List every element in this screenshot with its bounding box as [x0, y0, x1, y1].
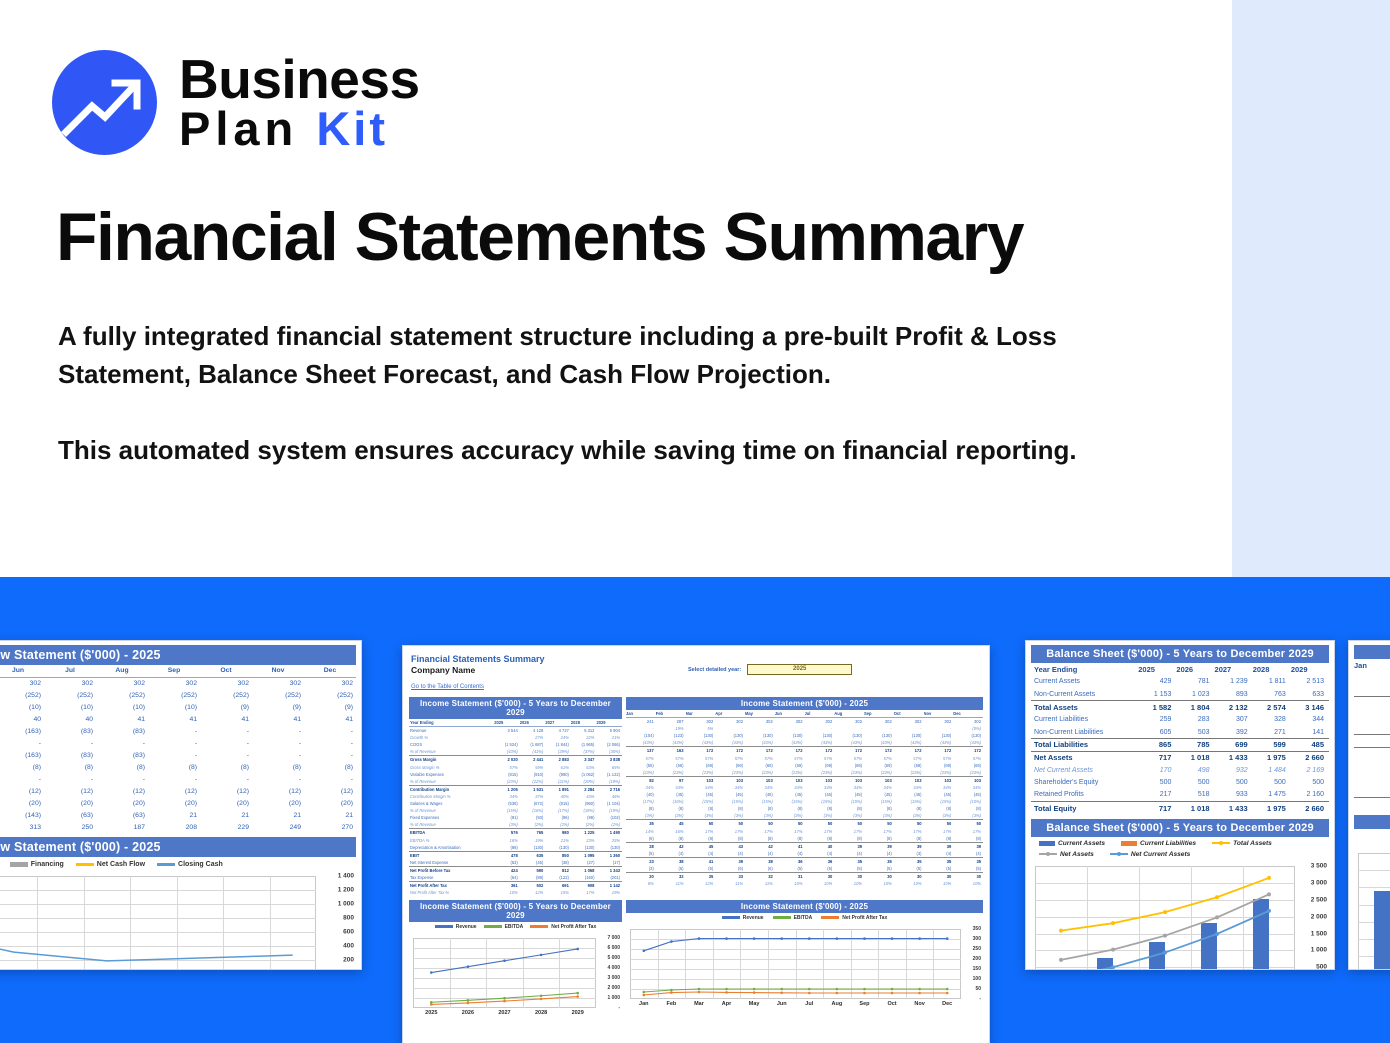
- table-cell: (43%): [894, 739, 924, 747]
- table-cell: 392: [1215, 726, 1253, 739]
- column-header: Sep: [864, 710, 894, 718]
- gridline: [685, 929, 686, 999]
- row-label: Non-Current Liabilities: [1031, 726, 1138, 739]
- table-cell: 1 142: [596, 882, 622, 890]
- table-cell: (16%): [520, 807, 546, 814]
- column-header: Feb: [656, 710, 686, 718]
- table-row: 692: [1354, 722, 1390, 735]
- table-cell: (15%): [864, 798, 894, 805]
- bar: [1097, 958, 1113, 970]
- table-cell: 39: [834, 842, 864, 850]
- table-cell: 17%: [715, 828, 745, 835]
- legend-item: Revenue: [722, 915, 764, 921]
- hero-description-1: A fully integrated financial statement s…: [58, 318, 1138, 393]
- table-cell: (8): [686, 805, 716, 812]
- table-cell: -: [304, 725, 356, 737]
- table-cell: 17%: [953, 828, 983, 835]
- table-cell: -: [864, 725, 894, 732]
- cash-flow-sheet[interactable]: Cash Flow Statement ($'000) - 2025 MayJu…: [0, 640, 362, 970]
- table-cell: 3 544: [494, 727, 520, 735]
- table-cell: (45): [745, 791, 775, 798]
- table-cell: 35: [864, 857, 894, 865]
- table-row: (17%)(16%)(15%)(15%)(15%)(15%)(15%)(15%)…: [626, 798, 983, 805]
- table-cell: 45: [656, 820, 686, 828]
- table-cell: 17%: [924, 828, 954, 835]
- table-cell: 19%: [520, 837, 546, 844]
- table-cell: 172: [864, 747, 894, 755]
- legend-item: EBITDA: [773, 915, 813, 921]
- table-cell: 14%: [626, 828, 656, 835]
- table-cell: -: [44, 773, 96, 785]
- table-cell: -: [894, 725, 924, 732]
- far-right-table: Jan 1 1741241 297936927865121 0815001251…: [1354, 659, 1390, 810]
- annual-chart-band: Income Statement ($'000) - 5 Years to De…: [409, 900, 622, 922]
- table-cell: 57%: [924, 755, 954, 762]
- table-cell: 785: [1176, 739, 1214, 752]
- table-row: Gross Margin %57%59%61%63%65%: [409, 764, 622, 771]
- table-cell: 605: [1138, 726, 1176, 739]
- table-cell: 50: [686, 820, 716, 828]
- table-row: Current Assets4297811 2391 8112 513: [1031, 676, 1329, 689]
- row-label: Current Liabilities: [1031, 713, 1138, 726]
- row-label: % of Revenue: [409, 778, 494, 786]
- table-cell: 34%: [494, 793, 520, 800]
- table-cell: 50: [715, 820, 745, 828]
- y-axis-tick: 5 000: [607, 955, 620, 961]
- table-cell: 57%: [626, 755, 656, 762]
- table-cell: (40): [626, 791, 656, 798]
- table-row: Net Current Assets1704989321 4842 169: [1031, 764, 1329, 777]
- table-cell: 34%: [686, 784, 716, 791]
- table-cell: (8): [805, 835, 835, 843]
- table-cell: (23%): [805, 769, 835, 777]
- table-cell: 43%: [571, 793, 597, 800]
- table-cell: 635: [520, 851, 546, 859]
- x-axis-tick: 2025: [425, 1010, 437, 1016]
- table-cell: 498: [1176, 764, 1214, 777]
- table-cell: 50: [805, 820, 835, 828]
- table-cell: 1 095: [571, 851, 597, 859]
- growth-arrow-icon: [52, 50, 157, 155]
- gridline: [1243, 866, 1244, 970]
- screenshot-stage: Cash Flow Statement ($'000) - 2025 MayJu…: [0, 577, 1390, 1043]
- table-cell: 17%: [686, 828, 716, 835]
- y-axis-tick: 200: [343, 957, 354, 964]
- table-cell: (5): [805, 865, 835, 873]
- table-cell: (18%): [571, 807, 597, 814]
- table-cell: 287: [656, 718, 686, 726]
- table-cell: 39: [715, 857, 745, 865]
- table-row: 456313250187208229249270: [0, 821, 356, 833]
- gridline: [413, 978, 596, 979]
- table-cell: 328: [1253, 713, 1291, 726]
- table-cell: 103: [924, 776, 954, 784]
- gridline: [878, 929, 879, 999]
- table-cell: 34%: [924, 784, 954, 791]
- table-cell: (8): [656, 835, 686, 843]
- table-cell: 512: [1354, 798, 1390, 811]
- table-row: EBITDA5767659801 2251 490: [409, 829, 622, 837]
- row-label: Depreciation & Amortisation: [409, 844, 494, 852]
- table-cell: (3%): [494, 821, 520, 829]
- far-right-sheet-fragment[interactable]: Jan 1 1741241 297936927865121 0815001251…: [1348, 640, 1390, 970]
- table-cell: (53): [494, 859, 520, 867]
- table-cell: -: [252, 773, 304, 785]
- brand-name-line1: Business: [179, 53, 420, 105]
- table-cell: -: [304, 773, 356, 785]
- table-cell: (8): [953, 835, 983, 843]
- gridline: [37, 876, 38, 970]
- column-header: 2025: [1138, 663, 1176, 676]
- y-axis-tick: 2 500: [1311, 896, 1327, 903]
- table-cell: 2 132: [1215, 701, 1253, 714]
- table-cell: -: [834, 725, 864, 732]
- table-cell: 302: [834, 718, 864, 726]
- y-axis-tick: 3 000: [1311, 879, 1327, 886]
- table-cell: 57%: [715, 755, 745, 762]
- gridline: [1035, 883, 1295, 884]
- table-cell: 1 490: [596, 829, 622, 837]
- table-cell: 241: [626, 718, 656, 726]
- table-cell: 38: [656, 857, 686, 865]
- table-row: (141)(143)(63)(63)21212121: [0, 809, 356, 821]
- table-cell: 10%: [864, 880, 894, 887]
- table-row: EBIT4786358501 0951 360: [409, 851, 622, 859]
- monthly-income-table: JanFebMarAprMayJunJulAugSepOctNovDec 241…: [626, 710, 983, 887]
- y-axis-tick: 3 500: [1311, 863, 1327, 870]
- table-cell: 172: [686, 747, 716, 755]
- table-cell: 40: [44, 713, 96, 725]
- table-cell: 22%: [571, 734, 597, 741]
- table-cell: -: [715, 725, 745, 732]
- table-row: (43%)(43%)(43%)(43%)(43%)(43%)(43%)(43%)…: [626, 739, 983, 747]
- legend-label: Total Assets: [1233, 840, 1272, 847]
- table-cell: 3 838: [596, 756, 622, 764]
- table-cell: (63): [44, 809, 96, 821]
- x-axis-tick: 2027: [498, 1010, 510, 1016]
- table-cell: (10): [148, 701, 200, 713]
- column-header: Jul: [805, 710, 835, 718]
- y-axis-tick: 1 200: [338, 887, 354, 894]
- table-cell: 208: [148, 821, 200, 833]
- y-axis-tick: 150: [973, 966, 981, 972]
- table-cell: (20%): [571, 778, 597, 786]
- table-cell: -: [252, 725, 304, 737]
- table-cell: (3%): [864, 812, 894, 820]
- table-cell: (3): [626, 865, 656, 873]
- table-cell: 1 975: [1253, 751, 1291, 764]
- table-cell: (8): [834, 805, 864, 812]
- year-selector-dropdown[interactable]: 2025: [747, 664, 852, 675]
- table-cell: (1 104): [596, 800, 622, 807]
- table-cell: (130): [520, 844, 546, 852]
- annual-income-body: Revenue3 5444 1284 7275 3125 904Growth %…: [409, 727, 622, 897]
- table-cell: 103: [953, 776, 983, 784]
- table-row: Shareholder's Equity500500500500500: [1031, 776, 1329, 789]
- table-cell: (69): [686, 762, 716, 769]
- table-row: (40)(45)(45)(45)(45)(45)(45)(45)(45)(45)…: [626, 791, 983, 798]
- table-cell: (5): [894, 865, 924, 873]
- table-cell: 21%: [596, 734, 622, 741]
- table-cell: 865: [1138, 739, 1176, 752]
- legend-item: Net Current Assets: [1110, 851, 1190, 858]
- table-row: (104)(123)(130)(130)(130)(130)(130)(130)…: [626, 732, 983, 739]
- table-cell: (10): [44, 701, 96, 713]
- balance-sheet-panel[interactable]: Balance Sheet ($'000) - 5 Years to Decem…: [1025, 640, 1335, 970]
- table-cell: 33: [715, 873, 745, 881]
- table-cell: 1 023: [1176, 688, 1214, 701]
- table-cell: 12: [1354, 785, 1390, 798]
- table-cell: 40: [0, 713, 44, 725]
- table-cell: -: [200, 773, 252, 785]
- table-cell: (8): [715, 835, 745, 843]
- table-cell: 21%: [545, 837, 571, 844]
- legend-label: Current Liabilities: [1140, 840, 1196, 847]
- table-cell: (3%): [745, 812, 775, 820]
- table-row: (8)(8)(8)(8)(8)(8)(8)(8): [0, 761, 356, 773]
- gridline: [1358, 870, 1390, 871]
- annual-chart-legend: RevenueEBITDANet Profit After Tax: [409, 922, 622, 932]
- table-cell: (23%): [834, 769, 864, 777]
- column-header: Mar: [686, 710, 716, 718]
- table-cell: (130): [864, 732, 894, 739]
- table-cell: 1 360: [596, 851, 622, 859]
- table-cell: 34%: [953, 784, 983, 791]
- table-cell: 10%: [805, 880, 835, 887]
- table-cell: 21: [304, 809, 356, 821]
- table-row: 284245434241403939393939: [626, 842, 983, 850]
- y-axis-tick: 200: [973, 956, 981, 962]
- row-label: Net Profit After Tax: [409, 882, 494, 890]
- table-cell: 250: [44, 821, 96, 833]
- table-cell: -: [775, 725, 805, 732]
- table-cell: 11%: [715, 880, 745, 887]
- row-label: Net Current Assets: [1031, 764, 1138, 777]
- row-label: Net Profit Before Tax: [409, 866, 494, 874]
- table-cell: 35: [924, 857, 954, 865]
- table-cell: (43%): [775, 739, 805, 747]
- hero-section: Business Plan Kit Financial Statements S…: [0, 0, 1390, 577]
- financial-summary-sheet[interactable]: Financial Statements Summary Company Nam…: [402, 645, 990, 1043]
- table-cell: (4): [686, 850, 716, 858]
- y-axis-tick: 300: [973, 936, 981, 942]
- table-cell: (201): [596, 874, 622, 882]
- balance-sheet-table-title: Balance Sheet ($'000) - 5 Years to Decem…: [1031, 645, 1329, 663]
- table-cell: (99): [571, 814, 597, 821]
- table-cell: (23%): [494, 778, 520, 786]
- table-cell: 1 018: [1176, 802, 1214, 815]
- table-cell: 302: [864, 718, 894, 726]
- table-cell: (4): [834, 850, 864, 858]
- y-axis-tick: -: [979, 996, 981, 1002]
- table-cell: 10%: [834, 880, 864, 887]
- table-cell: 302: [304, 677, 356, 689]
- table-cell: (88): [520, 874, 546, 882]
- table-cell: 23%: [571, 837, 597, 844]
- column-header: 2025: [494, 719, 520, 727]
- table-cell: (83): [44, 749, 96, 761]
- balance-sheet-body: Current Assets4297811 2391 8112 513Non-C…: [1031, 676, 1329, 815]
- brand-name-kit: Kit: [316, 102, 388, 155]
- table-cell: 361: [494, 882, 520, 890]
- table-cell: (23%): [894, 769, 924, 777]
- table-cell: (15%): [745, 798, 775, 805]
- table-cell: (3%): [656, 812, 686, 820]
- table-cell: (15%): [715, 798, 745, 805]
- table-cell: (12): [304, 785, 356, 797]
- table-cell: 908: [571, 882, 597, 890]
- row-label: Non-Current Assets: [1031, 688, 1138, 701]
- table-cell: 2 169: [1291, 764, 1329, 777]
- column-header: 2026: [520, 719, 546, 727]
- table-of-contents-link[interactable]: Go to the Table of Contents: [411, 684, 484, 690]
- table-cell: (8): [148, 761, 200, 773]
- table-cell: (15%): [805, 798, 835, 805]
- table-cell: 30: [894, 873, 924, 881]
- table-cell: 50: [953, 820, 983, 828]
- table-cell: 2 574: [1253, 701, 1291, 714]
- table-cell: (66): [656, 762, 686, 769]
- table-cell: (93): [520, 814, 546, 821]
- table-cell: (130): [596, 844, 622, 852]
- table-row: 1 297: [1354, 697, 1390, 710]
- year-selector-row[interactable]: Select detailed year: 2025: [688, 664, 852, 675]
- y-axis-tick: 4 000: [607, 965, 620, 971]
- table-cell: (12): [96, 785, 148, 797]
- table-cell: 763: [1253, 688, 1291, 701]
- legend-label: Revenue: [743, 915, 764, 921]
- table-row: (6)(8)(8)(8)(8)(8)(8)(8)(8)(8)(8)(8): [626, 835, 983, 843]
- table-cell: (0%): [953, 725, 983, 732]
- table-cell: (17%): [626, 798, 656, 805]
- table-cell: (143): [0, 809, 44, 821]
- table-row: 34%34%34%34%34%34%34%34%34%34%34%34%: [626, 784, 983, 791]
- table-cell: (8): [864, 835, 894, 843]
- row-label: Fixed Expenses: [409, 814, 494, 821]
- table-cell: 17%: [805, 828, 835, 835]
- table-cell: 36: [775, 857, 805, 865]
- table-cell: (5): [626, 850, 656, 858]
- table-cell: 765: [520, 829, 546, 837]
- table-cell: 30: [834, 873, 864, 881]
- gridline: [1358, 887, 1390, 888]
- y-axis-tick: 250: [973, 946, 981, 952]
- table-cell: 34%: [715, 784, 745, 791]
- x-axis-tick: Sep: [859, 1001, 869, 1007]
- row-label: Tax Expense: [409, 874, 494, 882]
- table-cell: 4 727: [545, 727, 571, 735]
- table-cell: (5): [924, 865, 954, 873]
- table-cell: (130): [775, 732, 805, 739]
- table-cell: 5 904: [596, 727, 622, 735]
- legend-item: EBITDA: [484, 924, 524, 930]
- table-row: --------: [0, 773, 356, 785]
- table-cell: 1 475: [1253, 789, 1291, 802]
- table-cell: 313: [0, 821, 44, 833]
- column-header: Nov: [252, 665, 304, 677]
- gridline: [713, 929, 714, 999]
- table-cell: 344: [1291, 713, 1329, 726]
- table-cell: (43%): [864, 739, 894, 747]
- row-label: % of Revenue: [409, 821, 494, 829]
- brand-logo: Business Plan Kit: [52, 50, 420, 155]
- table-cell: 850: [545, 851, 571, 859]
- table-cell: (4): [805, 850, 835, 858]
- table-cell: (17): [596, 859, 622, 867]
- table-row: Total Assets1 5821 8042 1322 5743 146: [1031, 701, 1329, 714]
- table-cell: 35: [834, 857, 864, 865]
- table-cell: 41: [252, 713, 304, 725]
- x-axis-tick: Aug: [832, 1001, 843, 1007]
- table-cell: (20): [148, 797, 200, 809]
- table-cell: 518: [1176, 789, 1214, 802]
- table-cell: (5): [864, 865, 894, 873]
- table-row: Total Liabilities865785699599485: [1031, 739, 1329, 752]
- table-cell: 50: [834, 820, 864, 828]
- table-cell: (130): [953, 732, 983, 739]
- page-title: Financial Statements Summary: [56, 198, 1156, 276]
- table-cell: 10%: [494, 889, 520, 896]
- table-cell: (69): [834, 762, 864, 769]
- table-row: Contribution Margin1 2051 5311 8912 2842…: [409, 785, 622, 793]
- table-cell: (45): [864, 791, 894, 798]
- table-cell: 502: [520, 882, 546, 890]
- table-cell: (16%): [656, 798, 686, 805]
- table-row: 203235333231303030303030: [626, 873, 983, 881]
- table-cell: 307: [1215, 713, 1253, 726]
- table-cell: (163): [0, 725, 44, 737]
- table-row: (13)(12)(12)(12)(12)(12)(12)(12): [0, 785, 356, 797]
- table-cell: 34%: [805, 784, 835, 791]
- column-header: Apr: [715, 710, 745, 718]
- table-cell: -: [304, 737, 356, 749]
- table-cell: 57%: [686, 755, 716, 762]
- table-cell: 41: [200, 713, 252, 725]
- table-cell: 1 531: [520, 785, 546, 793]
- gridline: [1191, 866, 1192, 970]
- table-row: 4340404141414141: [0, 713, 356, 725]
- table-cell: (45): [894, 791, 924, 798]
- table-cell: 82: [626, 776, 656, 784]
- table-cell: 50: [894, 820, 924, 828]
- table-cell: (83): [96, 749, 148, 761]
- table-cell: (672): [520, 800, 546, 807]
- cash-flow-table: MayJunJulAugSepOctNovDec 302302302302302…: [0, 665, 356, 833]
- table-cell: (2%): [545, 821, 571, 829]
- table-cell: 30: [805, 873, 835, 881]
- table-cell: 57%: [745, 755, 775, 762]
- table-cell: 1 975: [1253, 802, 1291, 815]
- y-axis-tick: 2 000: [1311, 913, 1327, 920]
- table-cell: 1 811: [1253, 676, 1291, 689]
- x-axis-tick: 2029: [572, 1010, 584, 1016]
- table-cell: 2 716: [596, 785, 622, 793]
- table-cell: 172: [834, 747, 864, 755]
- table-cell: (1 965): [571, 741, 597, 748]
- table-row: Contribution Margin %34%37%40%43%46%: [409, 793, 622, 800]
- table-row: (163)(163)(83)(83)----: [0, 749, 356, 761]
- table-cell: (163): [0, 749, 44, 761]
- table-cell: (252): [304, 689, 356, 701]
- table-cell: (15%): [686, 798, 716, 805]
- table-cell: 590: [520, 866, 546, 874]
- table-cell: (45): [715, 791, 745, 798]
- table-row: Depreciation & Amortisation(98)(130)(130…: [409, 844, 622, 852]
- table-cell: 20: [626, 873, 656, 881]
- table-cell: 163: [656, 747, 686, 755]
- table-cell: 59%: [520, 764, 546, 771]
- y-axis-tick: 6 000: [607, 945, 620, 951]
